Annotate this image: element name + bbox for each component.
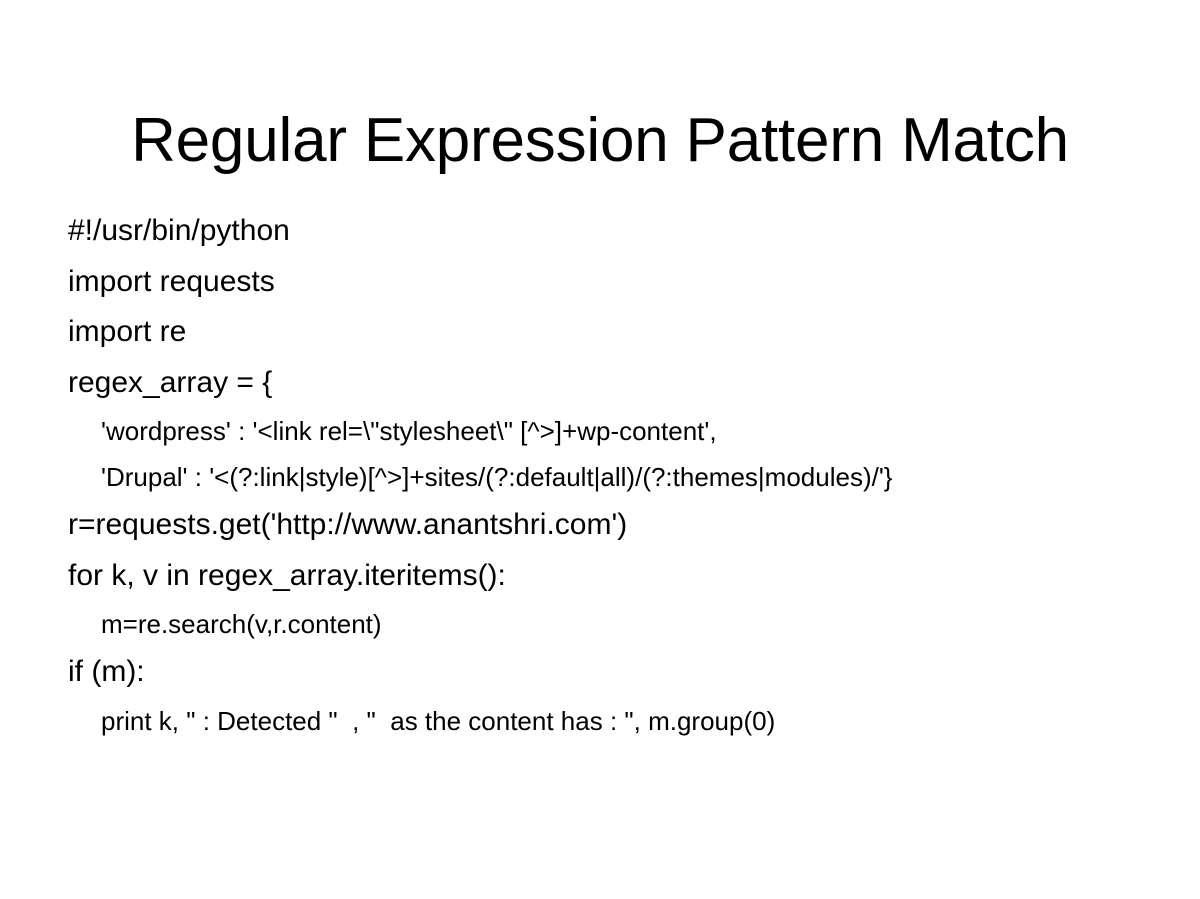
slide-canvas: Regular Expression Pattern Match #!/usr/… — [0, 0, 1200, 899]
page-title: Regular Expression Pattern Match — [0, 110, 1200, 172]
code-line: #!/usr/bin/python — [68, 206, 1168, 257]
code-line: import re — [68, 307, 1168, 358]
code-line: for k, v in regex_array.iteritems(): — [68, 551, 1168, 602]
code-line: regex_array = { — [68, 358, 1168, 409]
code-line: r=requests.get('http://www.anantshri.com… — [68, 500, 1168, 551]
code-line: 'Drupal' : '<(?:link|style)[^>]+sites/(?… — [68, 454, 1168, 500]
code-line: 'wordpress' : '<link rel=\"stylesheet\" … — [68, 408, 1168, 454]
code-line: if (m): — [68, 647, 1168, 698]
code-line: print k, " : Detected " , " as the conte… — [68, 698, 1168, 744]
code-line: m=re.search(v,r.content) — [68, 601, 1168, 647]
code-line: import requests — [68, 257, 1168, 308]
code-block: #!/usr/bin/python import requests import… — [68, 206, 1168, 744]
